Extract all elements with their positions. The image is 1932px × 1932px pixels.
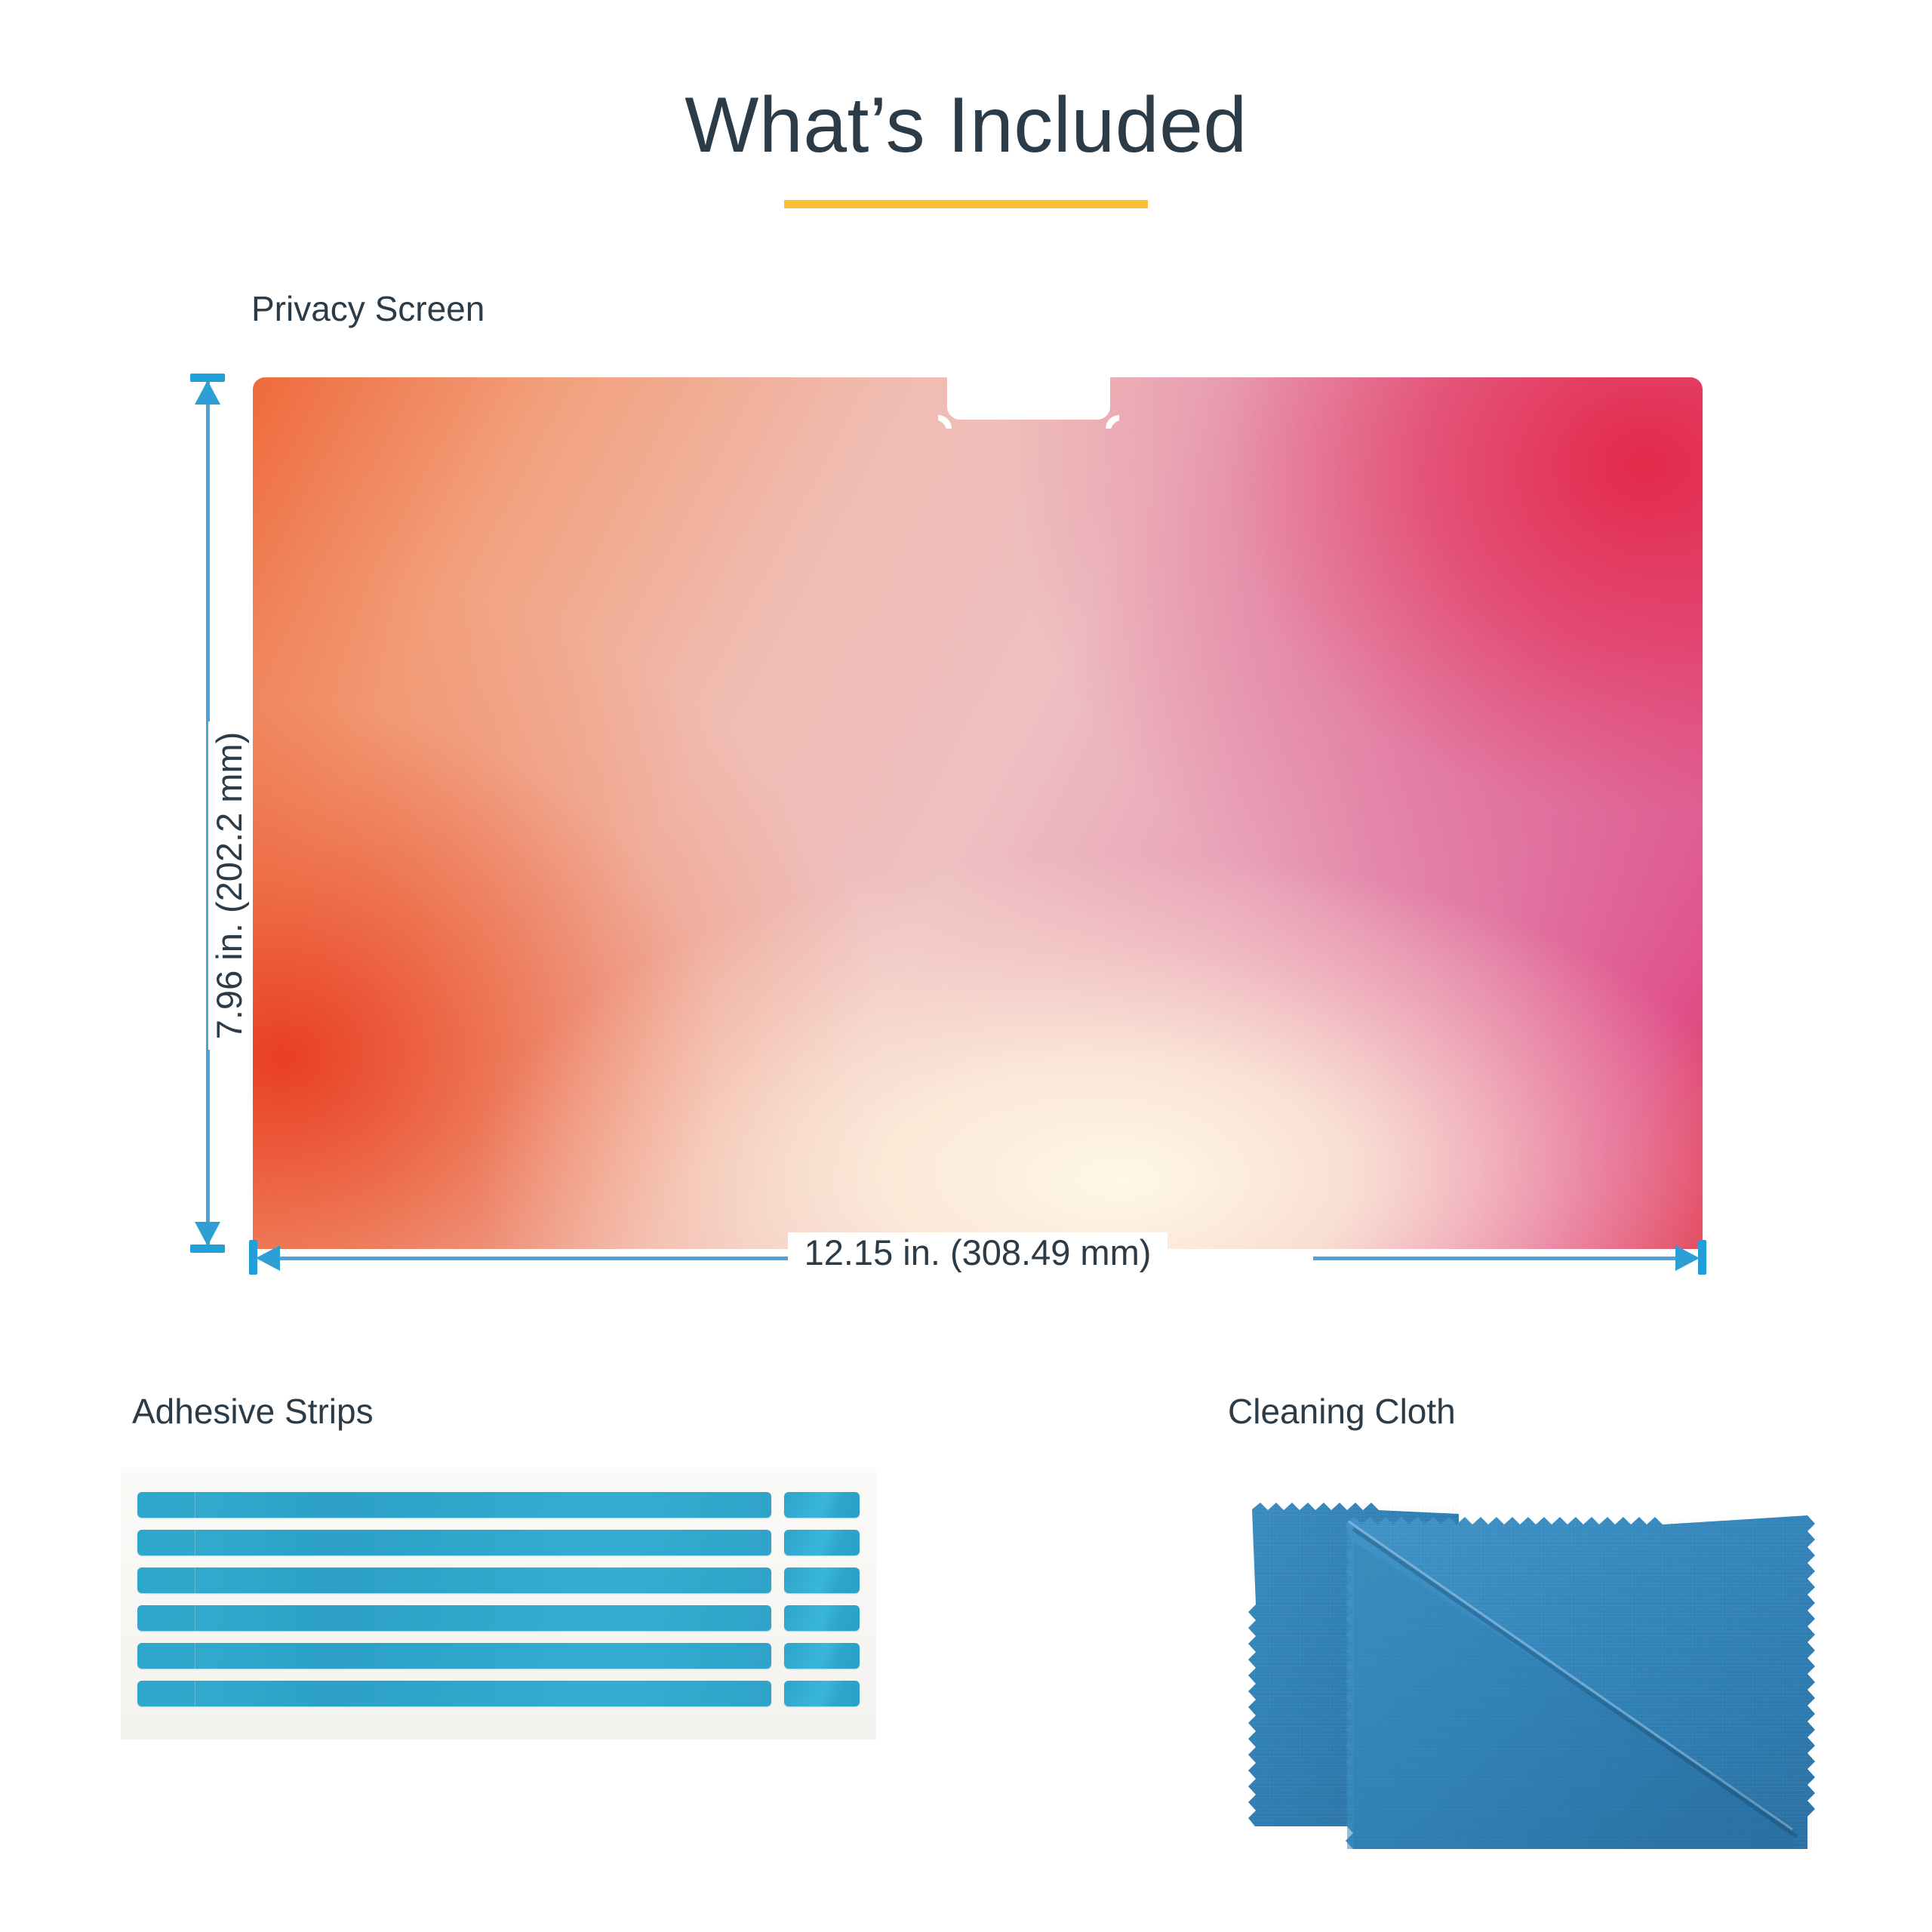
arrow-down-icon xyxy=(195,1222,220,1246)
adhesive-strip-long xyxy=(137,1605,771,1631)
privacy-screen-panel xyxy=(253,377,1703,1249)
dimension-line-vertical xyxy=(202,377,213,1249)
adhesive-strip-row xyxy=(137,1492,860,1518)
adhesive-strip-long xyxy=(137,1567,771,1593)
adhesive-strip-tab xyxy=(784,1643,860,1669)
arrow-right-icon xyxy=(1675,1245,1700,1271)
adhesive-strip-long xyxy=(137,1492,771,1518)
dimension-shaft-left xyxy=(272,1257,801,1260)
dimension-label-height: 7.96 in. (202.2 mm) xyxy=(208,721,250,1051)
adhesive-strip-row xyxy=(137,1567,860,1593)
title-underline-accent xyxy=(784,200,1148,208)
adhesive-strip-tab xyxy=(784,1492,860,1518)
adhesive-strip-tab xyxy=(784,1567,860,1593)
adhesive-strip-tab xyxy=(784,1605,860,1631)
arrow-left-icon xyxy=(256,1245,280,1271)
adhesive-strip-row xyxy=(137,1681,860,1706)
page-header: What’s Included xyxy=(0,85,1932,208)
dimension-line-horizontal: 12.15 in. (308.49 mm) xyxy=(253,1253,1703,1263)
adhesive-strip-row xyxy=(137,1643,860,1669)
privacy-screen-label: Privacy Screen xyxy=(251,288,485,329)
adhesive-strip-long xyxy=(137,1643,771,1669)
adhesive-strip-long xyxy=(137,1681,771,1706)
adhesive-strips-label: Adhesive Strips xyxy=(132,1391,374,1432)
adhesive-strip-row xyxy=(137,1605,860,1631)
adhesive-strip-row xyxy=(137,1530,860,1555)
dimension-shaft-vertical xyxy=(206,377,210,1249)
privacy-screen-product-image xyxy=(253,377,1703,1249)
cleaning-cloth-product-image xyxy=(1232,1472,1836,1893)
cleaning-cloth-label: Cleaning Cloth xyxy=(1228,1391,1456,1432)
adhesive-strip-long xyxy=(137,1530,771,1555)
adhesive-strips-product-image xyxy=(121,1468,876,1740)
adhesive-strip-tab xyxy=(784,1681,860,1706)
camera-notch-cutout xyxy=(947,376,1110,420)
arrow-up-icon xyxy=(195,380,220,405)
dimension-shaft-right xyxy=(1313,1257,1683,1260)
adhesive-strip-tab xyxy=(784,1530,860,1555)
page-title: What’s Included xyxy=(0,85,1932,167)
